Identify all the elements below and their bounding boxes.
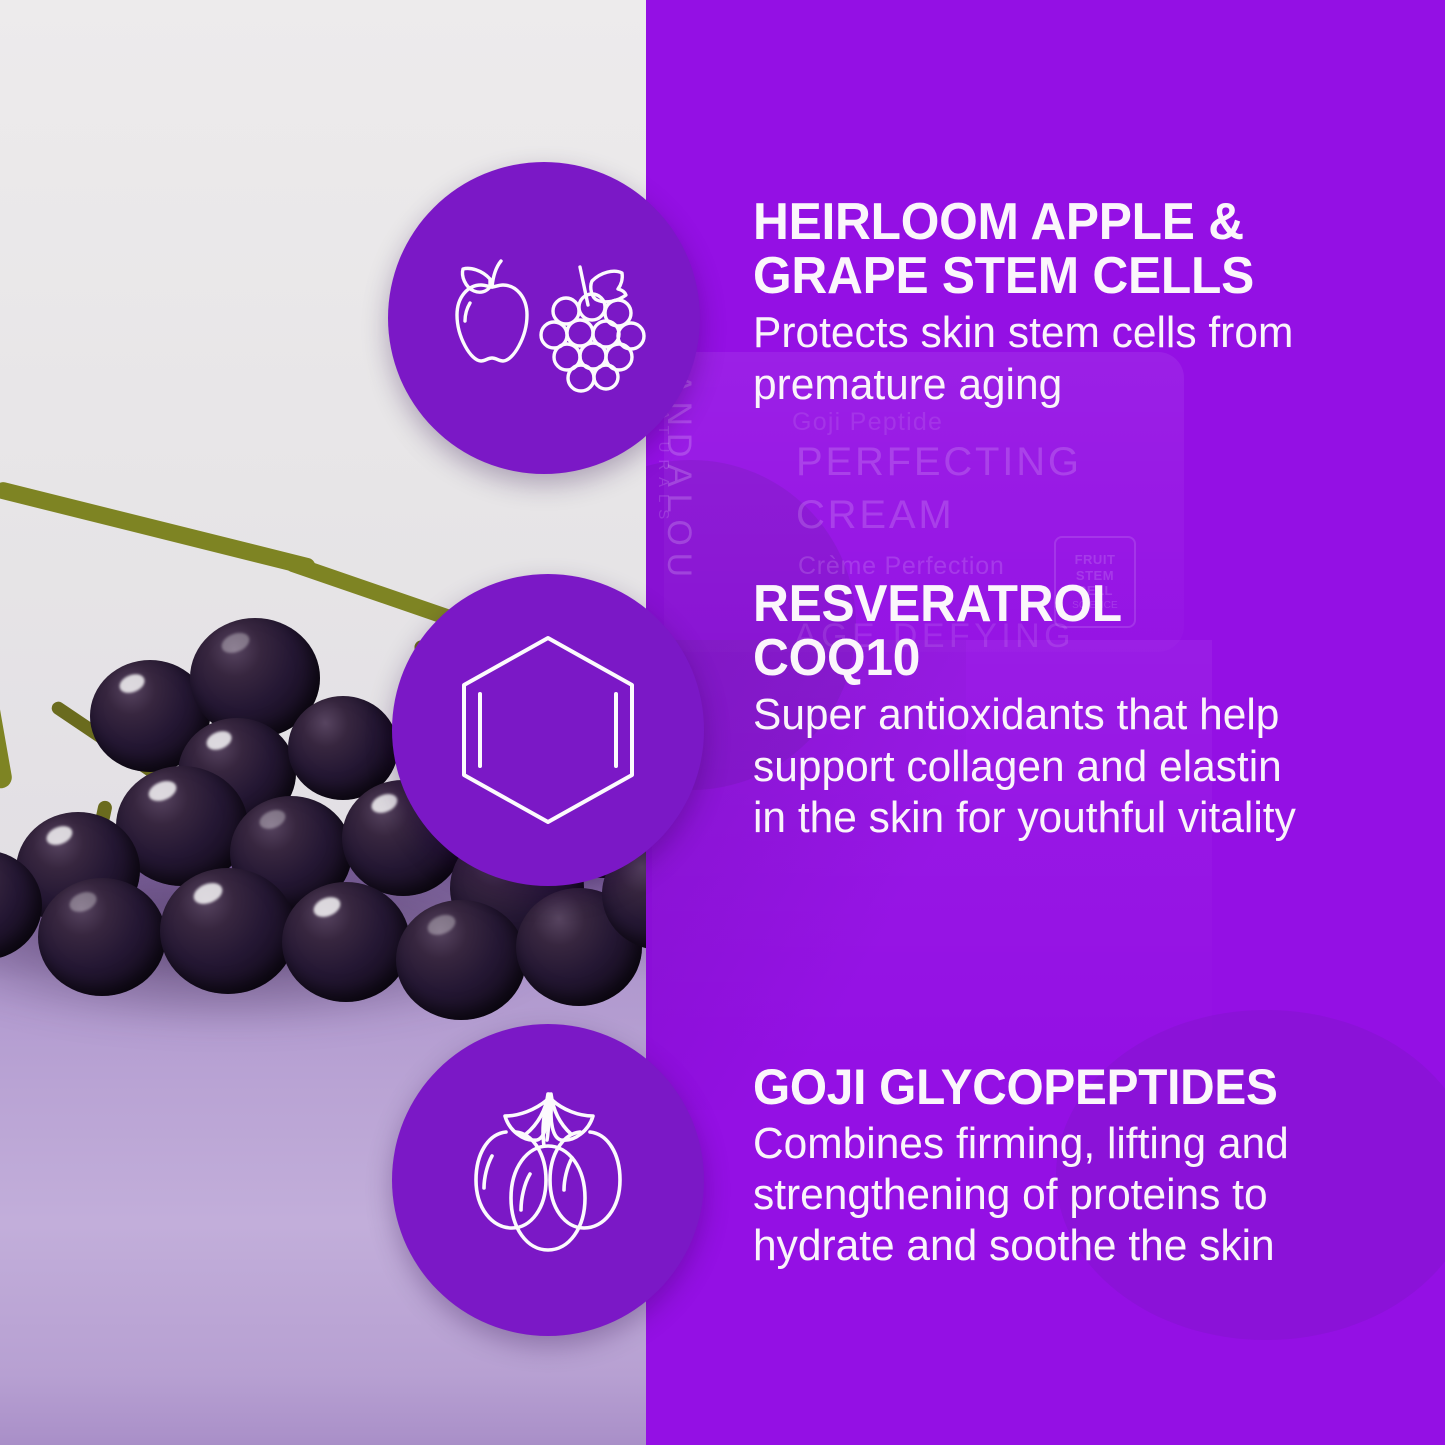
feature-block-goji: GOJI GLYCOPEPTIDES Combines firming, lif… xyxy=(753,1062,1423,1272)
feature-block-apple-grape: HEIRLOOM APPLE & GRAPE STEM CELLS Protec… xyxy=(753,196,1393,410)
feature-heading: GOJI GLYCOPEPTIDES xyxy=(753,1062,1393,1114)
feature-icon-badge-apple-grape xyxy=(388,162,700,474)
feature-heading: HEIRLOOM APPLE & GRAPE STEM CELLS xyxy=(753,196,1364,303)
feature-body: Protects skin stem cells from premature … xyxy=(753,307,1371,410)
badge-line-1: FRUIT xyxy=(1075,553,1116,568)
infographic-canvas: ANDALOU NATURALS Goji Peptide PERFECTING… xyxy=(0,0,1445,1445)
feature-body: Combines firming, lifting and strengthen… xyxy=(753,1118,1400,1272)
apple-and-grapes-icon xyxy=(434,243,654,393)
feature-icon-badge-resveratrol xyxy=(392,574,704,886)
feature-block-resveratrol: RESVERATROL COQ10 Super antioxidants tha… xyxy=(753,578,1323,844)
goji-berries-icon xyxy=(448,1080,648,1280)
feature-heading: RESVERATROL COQ10 xyxy=(753,578,1297,685)
benzene-hexagon-icon xyxy=(458,632,638,828)
feature-icon-badge-goji xyxy=(392,1024,704,1336)
feature-body: Super antioxidants that help support col… xyxy=(753,689,1303,843)
